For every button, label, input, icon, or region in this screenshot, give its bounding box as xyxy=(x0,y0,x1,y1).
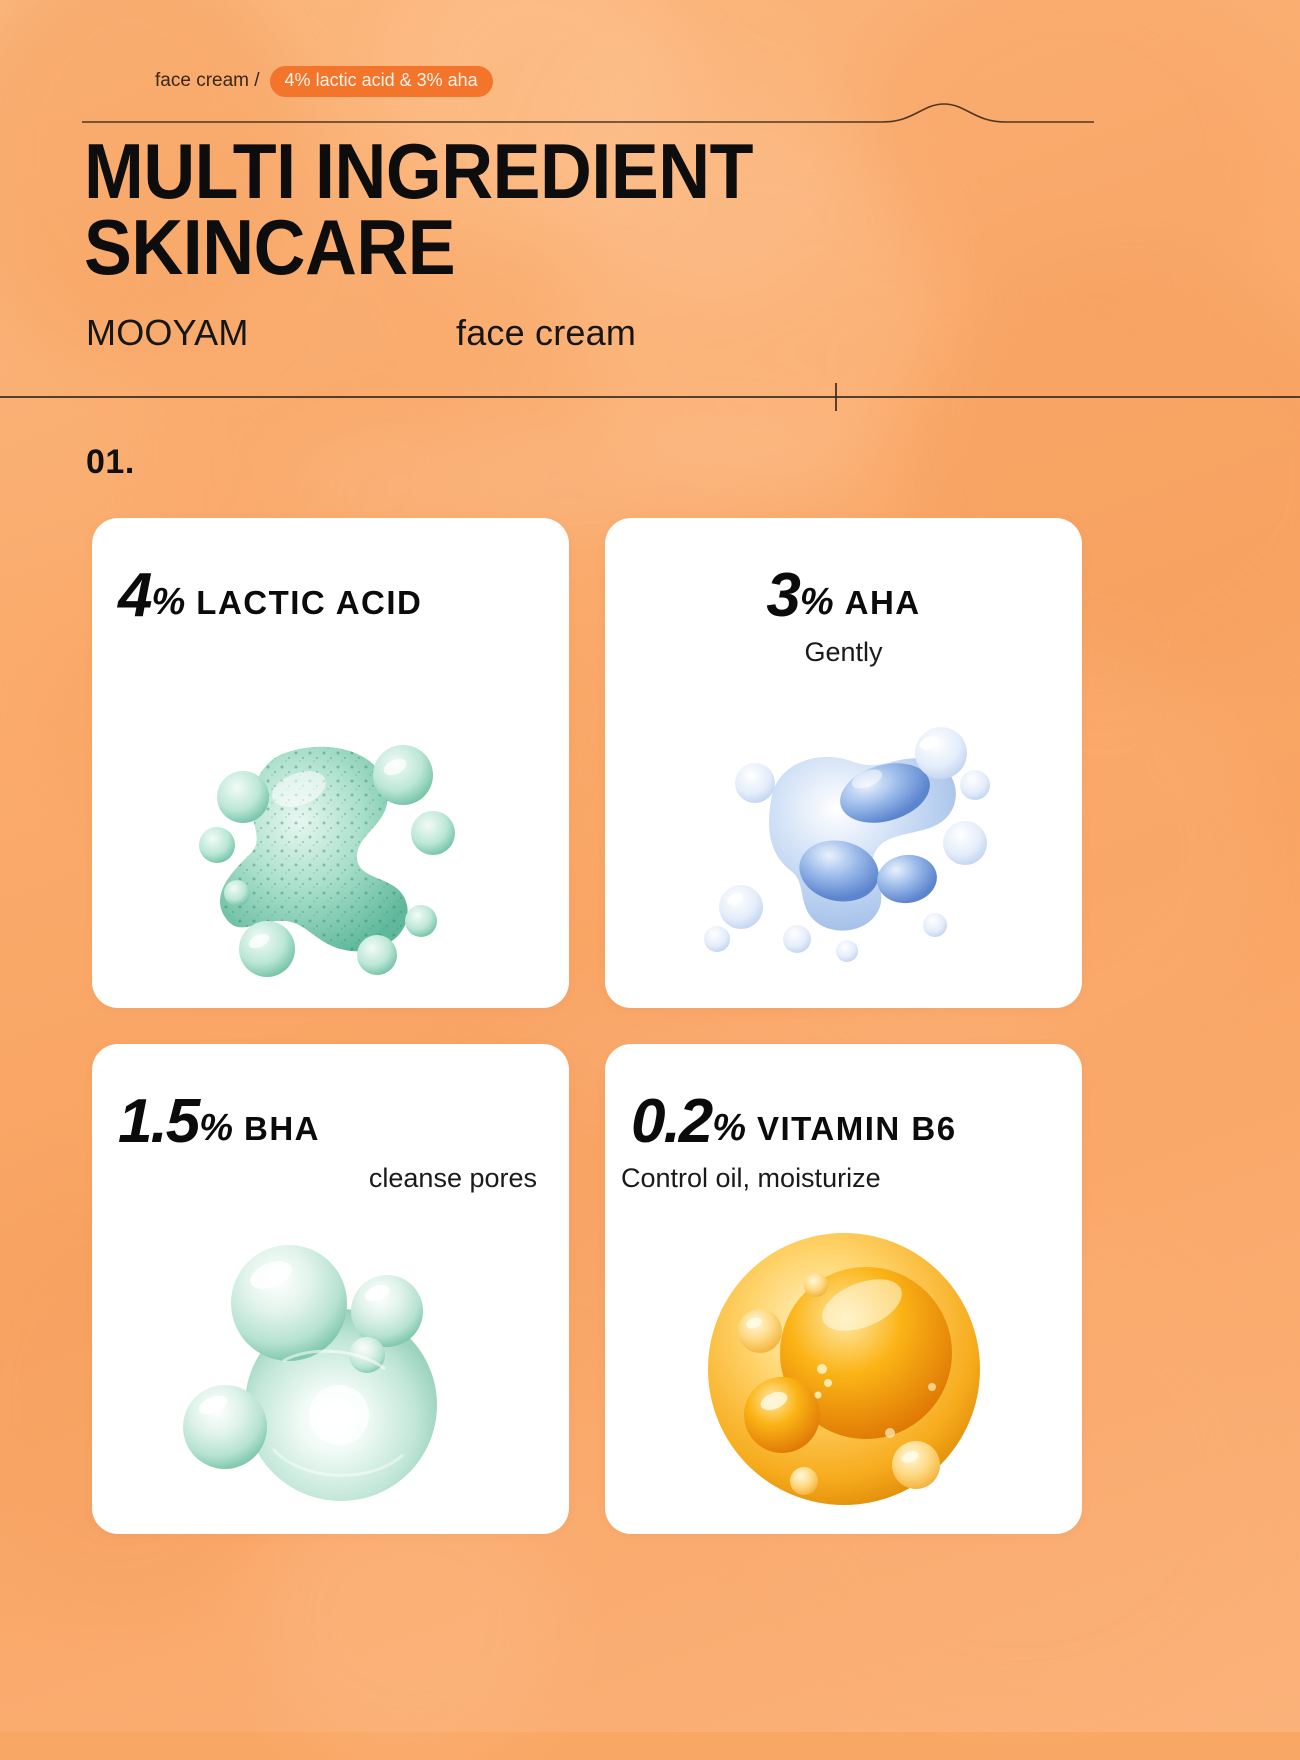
card-value: 1.5 xyxy=(118,1087,198,1156)
green-glitter-gel-droplets-icon xyxy=(92,678,569,1008)
page-title: MULTI INGREDIENT SKINCARE xyxy=(84,133,1050,286)
divider-tick-mark xyxy=(835,383,837,411)
card-heading: 0.2%VITAMIN B6 xyxy=(605,1044,1082,1157)
amber-oil-droplet-sphere-icon xyxy=(605,1204,1082,1534)
ingredient-card-vitamin-b6[interactable]: 0.2%VITAMIN B6 Control oil, moisturize xyxy=(605,1044,1082,1534)
card-subtitle: cleanse pores xyxy=(92,1163,569,1194)
card-percent-symbol: % xyxy=(712,1107,745,1149)
ingredient-card-lactic-acid[interactable]: 4%LACTIC ACID xyxy=(92,518,569,1008)
card-subtitle: Control oil, moisturize xyxy=(605,1163,1082,1194)
breadcrumb: face cream / 4% lactic acid & 3% aha xyxy=(155,66,493,97)
card-ingredient-name: AHA xyxy=(845,584,921,621)
poster-page: face cream / 4% lactic acid & 3% aha MUL… xyxy=(0,0,1300,1732)
card-heading: 3%AHA xyxy=(605,518,1082,631)
card-value: 4 xyxy=(118,561,150,630)
brand-row: MOOYAM face cream xyxy=(86,312,986,354)
ingredient-card-grid: 4%LACTIC ACID xyxy=(92,518,1082,1534)
blue-molecule-cluster-icon xyxy=(605,678,1082,1008)
brand-name: MOOYAM xyxy=(86,312,456,354)
card-percent-symbol: % xyxy=(199,1107,232,1149)
ingredient-card-bha[interactable]: 1.5%BHA cleanse pores xyxy=(92,1044,569,1534)
card-subtitle: Gently xyxy=(605,637,1082,668)
card-value: 3 xyxy=(766,561,798,630)
green-bubble-spheres-icon xyxy=(92,1204,569,1534)
card-heading: 4%LACTIC ACID xyxy=(92,518,569,631)
card-percent-symbol: % xyxy=(151,581,184,623)
ingredient-card-aha[interactable]: 3%AHA Gently xyxy=(605,518,1082,1008)
card-value: 0.2 xyxy=(631,1087,711,1156)
product-name: face cream xyxy=(456,312,636,354)
breadcrumb-pill-badge[interactable]: 4% lactic acid & 3% aha xyxy=(270,66,493,97)
card-ingredient-name: LACTIC ACID xyxy=(196,584,422,621)
divider-rule xyxy=(0,396,1300,398)
section-number: 01. xyxy=(86,443,135,482)
card-heading: 1.5%BHA xyxy=(92,1044,569,1157)
card-ingredient-name: BHA xyxy=(244,1110,320,1147)
breadcrumb-category[interactable]: face cream / xyxy=(155,70,260,92)
card-ingredient-name: VITAMIN B6 xyxy=(757,1110,957,1147)
card-percent-symbol: % xyxy=(800,581,833,623)
